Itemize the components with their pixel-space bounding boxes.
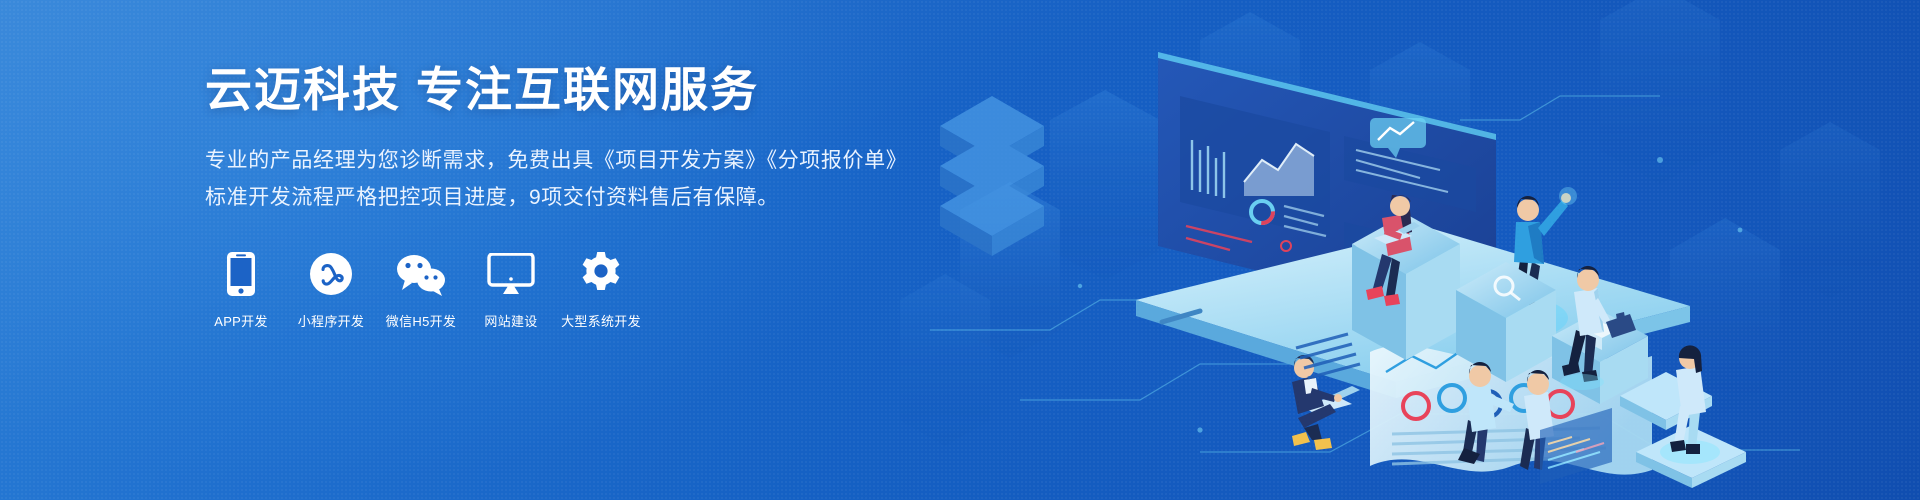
- subtitle-line-2: 标准开发流程严格把控项目进度，9项交付资料售后有保障。: [205, 180, 905, 217]
- service-label-website: 网站建设: [484, 311, 537, 330]
- service-item-app[interactable]: APP开发: [205, 251, 277, 330]
- monitor-icon: [487, 251, 535, 297]
- hero-banner: 云迈科技 专注互联网服务 专业的产品经理为您诊断需求，免费出具《项目开发方案》《…: [0, 0, 1920, 500]
- page-title: 云迈科技 专注互联网服务: [205, 62, 905, 117]
- server-stack: [940, 96, 1044, 256]
- banner-subtitle: 专业的产品经理为您诊断需求，免费出具《项目开发方案》《分项报价单》 标准开发流程…: [205, 143, 905, 216]
- isometric-tech-illustration: [900, 0, 1920, 500]
- service-item-mini-program[interactable]: 小程序开发: [295, 251, 367, 330]
- service-item-website[interactable]: 网站建设: [475, 251, 547, 330]
- service-label-app: APP开发: [214, 311, 268, 330]
- mini-program-icon: [309, 251, 353, 297]
- service-item-system[interactable]: 大型系统开发: [565, 251, 637, 330]
- service-label-wechat: 微信H5开发: [386, 311, 456, 330]
- subtitle-line-1: 专业的产品经理为您诊断需求，免费出具《项目开发方案》《分项报价单》: [205, 143, 905, 180]
- service-icon-row: APP开发 小程序开发: [205, 251, 905, 330]
- banner-content: 云迈科技 专注互联网服务 专业的产品经理为您诊断需求，免费出具《项目开发方案》《…: [205, 62, 905, 330]
- service-label-mini-program: 小程序开发: [298, 311, 365, 330]
- wechat-icon: [395, 251, 447, 297]
- service-label-system: 大型系统开发: [561, 311, 641, 330]
- mobile-phone-icon: [226, 251, 256, 297]
- gear-icon: [578, 251, 624, 297]
- service-item-wechat[interactable]: 微信H5开发: [385, 251, 457, 330]
